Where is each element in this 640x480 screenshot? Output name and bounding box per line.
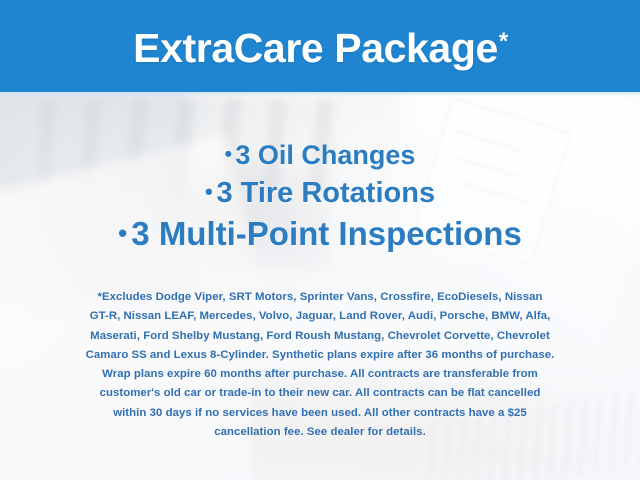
benefit-item-tire-rotations: •3 Tire Rotations [0, 175, 640, 213]
fineprint-disclaimer: *Excludes Dodge Viper, SRT Motors, Sprin… [28, 288, 612, 442]
bullet-dot-icon: • [205, 179, 213, 204]
extracare-package-ad: ExtraCare Package* •3 Oil Changes •3 Tir… [0, 0, 640, 480]
title-asterisk: * [499, 28, 508, 55]
benefit-item-multi-point-inspections: •3 Multi-Point Inspections [0, 213, 640, 258]
fineprint-line: within 30 days if no services have been … [28, 404, 612, 423]
benefit-label: 3 Multi-Point Inspections [131, 215, 522, 252]
benefits-list: •3 Oil Changes •3 Tire Rotations •3 Mult… [0, 138, 640, 258]
fineprint-line: customer's old car or trade-in to their … [28, 384, 612, 403]
banner-seam [0, 92, 640, 96]
fineprint-line: cancellation fee. See dealer for details… [28, 423, 612, 442]
fineprint-line: *Excludes Dodge Viper, SRT Motors, Sprin… [28, 288, 612, 307]
fineprint-line: Camaro SS and Lexus 8-Cylinder. Syntheti… [28, 346, 612, 365]
fineprint-line: Maserati, Ford Shelby Mustang, Ford Rous… [28, 327, 612, 346]
benefit-label: 3 Oil Changes [235, 140, 415, 170]
page-title-text: ExtraCare Package [133, 25, 498, 71]
benefit-label: 3 Tire Rotations [216, 177, 435, 209]
title-banner: ExtraCare Package* [0, 0, 640, 92]
fineprint-line: Wrap plans expire 60 months after purcha… [28, 365, 612, 384]
benefit-item-oil-changes: •3 Oil Changes [0, 138, 640, 175]
bullet-dot-icon: • [118, 220, 127, 248]
fineprint-line: GT-R, Nissan LEAF, Mercedes, Volvo, Jagu… [28, 307, 612, 326]
page-title: ExtraCare Package* [133, 28, 507, 69]
bullet-dot-icon: • [225, 143, 232, 166]
